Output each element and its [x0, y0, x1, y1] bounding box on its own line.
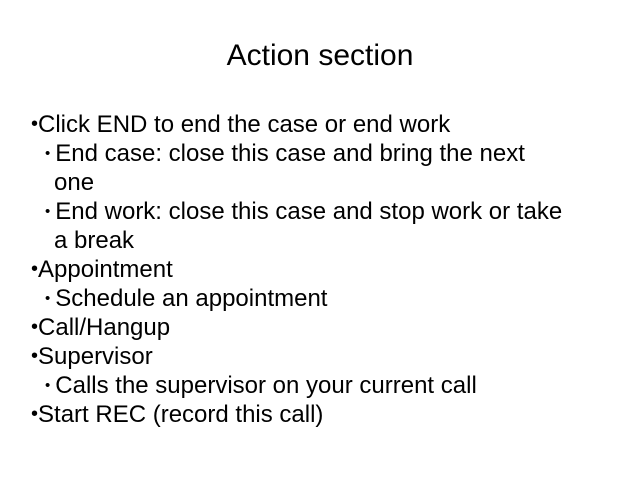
- presentation-slide: Action section •Click END to end the cas…: [0, 0, 640, 480]
- list-item-label: Calls the supervisor on your current cal…: [55, 372, 477, 399]
- list-item-label: Appointment: [38, 256, 173, 283]
- page-title: Action section: [0, 38, 640, 74]
- bullet-icon: •: [31, 345, 38, 367]
- bullet-icon: •: [31, 258, 38, 280]
- list-item-label: one: [54, 169, 94, 196]
- list-item: •Schedule an appointment: [45, 284, 611, 313]
- list-item-label: Supervisor: [38, 343, 153, 370]
- bullet-icon: •: [31, 316, 38, 338]
- list-item-label: Start REC (record this call): [38, 401, 323, 428]
- list-item: •Click END to end the case or end work: [31, 110, 611, 139]
- list-item-label: End work: close this case and stop work …: [55, 198, 562, 225]
- list-item: •End case: close this case and bring the…: [45, 139, 611, 168]
- list-item-label: a break: [54, 227, 134, 254]
- list-item: •Supervisor: [31, 342, 611, 371]
- list-item-label: Call/Hangup: [38, 314, 170, 341]
- list-item-label: End case: close this case and bring the …: [55, 140, 525, 167]
- list-item-label: Click END to end the case or end work: [38, 111, 450, 138]
- bullet-list: •Click END to end the case or end work •…: [31, 110, 611, 429]
- list-item: •Call/Hangup: [31, 313, 611, 342]
- list-item-label: Schedule an appointment: [55, 285, 327, 312]
- list-item: •Appointment: [31, 255, 611, 284]
- bullet-icon: •: [45, 203, 50, 220]
- list-item: •End work: close this case and stop work…: [45, 197, 611, 226]
- bullet-icon: •: [31, 403, 38, 425]
- list-item-continuation: a break: [54, 226, 611, 255]
- list-item-continuation: one: [54, 168, 611, 197]
- bullet-icon: •: [45, 290, 50, 307]
- list-item: •Calls the supervisor on your current ca…: [45, 371, 611, 400]
- bullet-icon: •: [45, 145, 50, 162]
- bullet-icon: •: [45, 377, 50, 394]
- list-item: •Start REC (record this call): [31, 400, 611, 429]
- bullet-icon: •: [31, 113, 38, 135]
